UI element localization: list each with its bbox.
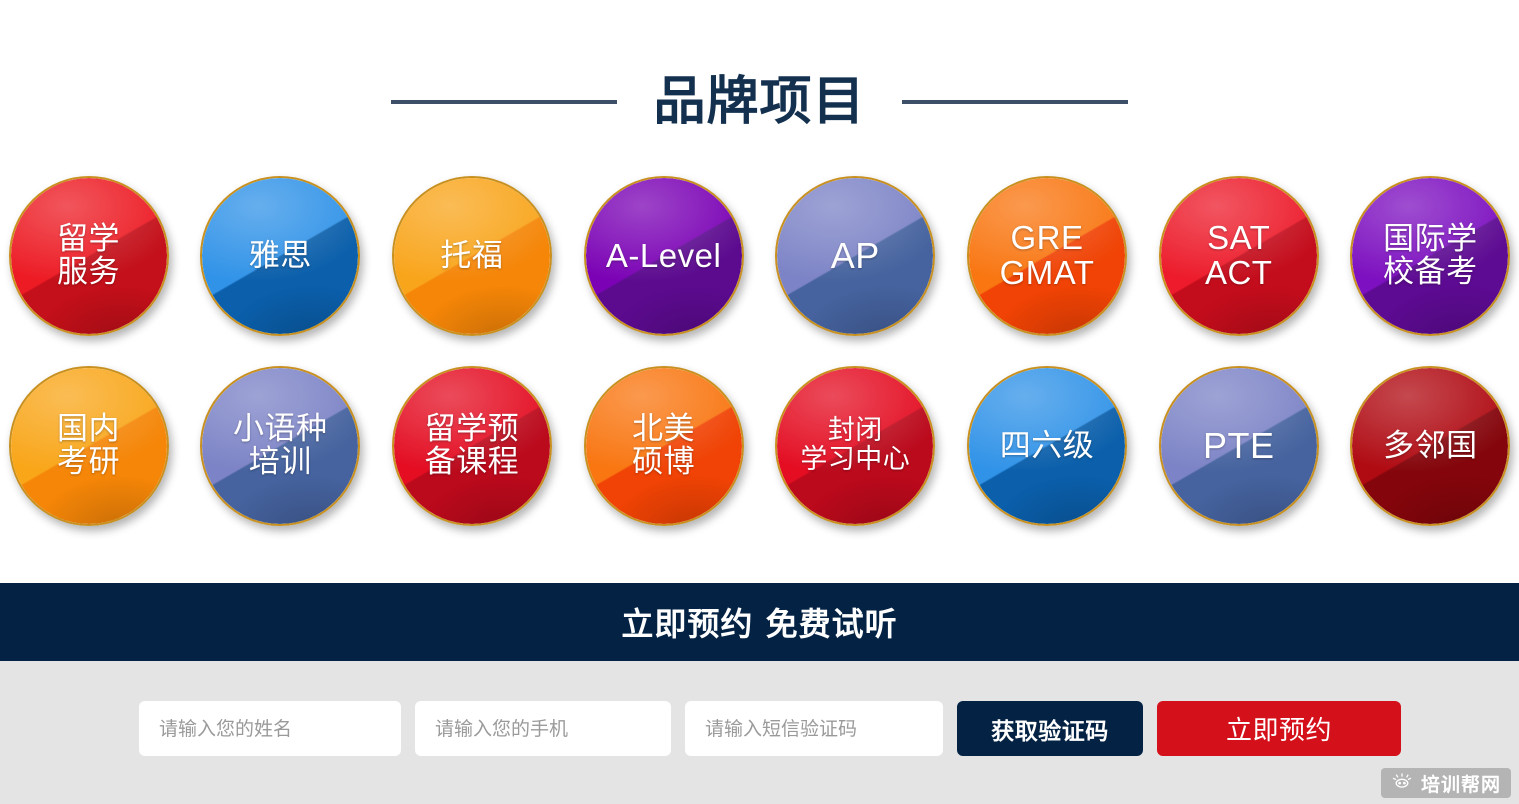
program-label: AP	[825, 237, 886, 275]
program-label: A-Level	[600, 239, 727, 274]
heading-rule-right	[902, 100, 1128, 104]
brand-programs-page: 品牌项目 留学 服务雅思托福A-LevelAPGRE GMATSAT ACT国际…	[0, 0, 1519, 804]
program-cell: 封闭 学习中心	[774, 366, 937, 526]
program-cell: 小语种 培训	[199, 366, 362, 526]
program-label: 国际学 校备考	[1377, 223, 1484, 289]
program-label: SAT ACT	[1199, 221, 1279, 291]
program-label: PTE	[1197, 427, 1281, 465]
program-label: 北美 硕博	[626, 413, 701, 479]
program-bubble[interactable]: AP	[775, 176, 935, 336]
page-title: 品牌项目	[653, 76, 865, 128]
get-verification-code-button[interactable]: 获取验证码	[957, 701, 1143, 756]
program-bubble[interactable]: 国内 考研	[9, 366, 169, 526]
watermark-text: 培训帮网	[1421, 770, 1501, 797]
program-cell: 托福	[390, 176, 553, 336]
program-cell: GRE GMAT	[966, 176, 1129, 336]
program-label: 托福	[434, 240, 509, 273]
program-row-1: 留学 服务雅思托福A-LevelAPGRE GMATSAT ACT国际学 校备考	[0, 176, 1519, 336]
program-bubble[interactable]: 托福	[392, 176, 552, 336]
booking-form-strip: 获取验证码 立即预约	[0, 661, 1519, 804]
program-cell: PTE	[1157, 366, 1320, 526]
program-cell: 留学预 备课程	[390, 366, 553, 526]
name-input[interactable]	[139, 701, 401, 756]
site-watermark: 培训帮网	[1381, 768, 1511, 798]
program-cell: AP	[774, 176, 937, 336]
sun-face-icon	[1391, 772, 1413, 794]
program-bubble[interactable]: PTE	[1159, 366, 1319, 526]
program-label: 封闭 学习中心	[794, 417, 916, 474]
program-bubble[interactable]: 留学预 备课程	[392, 366, 552, 526]
program-bubble[interactable]: 多邻国	[1350, 366, 1510, 526]
program-cell: A-Level	[582, 176, 745, 336]
program-label: 留学预 备课程	[419, 413, 526, 479]
program-label: 雅思	[243, 240, 318, 273]
program-cell: SAT ACT	[1157, 176, 1320, 336]
program-cell: 雅思	[199, 176, 362, 336]
program-grid: 留学 服务雅思托福A-LevelAPGRE GMATSAT ACT国际学 校备考…	[0, 176, 1519, 556]
cta-banner: 立即预约 免费试听	[0, 583, 1519, 661]
program-label: 四六级	[994, 430, 1101, 463]
sms-code-input[interactable]	[685, 701, 943, 756]
program-bubble[interactable]: 国际学 校备考	[1350, 176, 1510, 336]
program-cell: 留学 服务	[7, 176, 170, 336]
program-bubble[interactable]: 北美 硕博	[584, 366, 744, 526]
program-bubble[interactable]: 留学 服务	[9, 176, 169, 336]
cta-banner-text: 立即预约 免费试听	[621, 599, 897, 645]
program-label: 小语种 培训	[227, 413, 334, 479]
program-bubble[interactable]: 封闭 学习中心	[775, 366, 935, 526]
program-cell: 多邻国	[1349, 366, 1512, 526]
phone-input[interactable]	[415, 701, 671, 756]
section-heading: 品牌项目	[0, 62, 1519, 142]
program-bubble[interactable]: SAT ACT	[1159, 176, 1319, 336]
program-cell: 国内 考研	[7, 366, 170, 526]
program-row-2: 国内 考研小语种 培训留学预 备课程北美 硕博封闭 学习中心四六级PTE多邻国	[0, 366, 1519, 526]
submit-booking-button[interactable]: 立即预约	[1157, 701, 1401, 756]
program-bubble[interactable]: 雅思	[200, 176, 360, 336]
booking-form: 获取验证码 立即预约	[139, 701, 1401, 756]
program-bubble[interactable]: GRE GMAT	[967, 176, 1127, 336]
program-label: 国内 考研	[51, 413, 126, 479]
program-cell: 北美 硕博	[582, 366, 745, 526]
program-label: GRE GMAT	[994, 221, 1101, 291]
program-label: 留学 服务	[51, 223, 126, 289]
program-cell: 四六级	[966, 366, 1129, 526]
program-cell: 国际学 校备考	[1349, 176, 1512, 336]
heading-rule-left	[391, 100, 617, 104]
program-bubble[interactable]: A-Level	[584, 176, 744, 336]
program-bubble[interactable]: 小语种 培训	[200, 366, 360, 526]
program-label: 多邻国	[1377, 430, 1484, 463]
program-bubble[interactable]: 四六级	[967, 366, 1127, 526]
